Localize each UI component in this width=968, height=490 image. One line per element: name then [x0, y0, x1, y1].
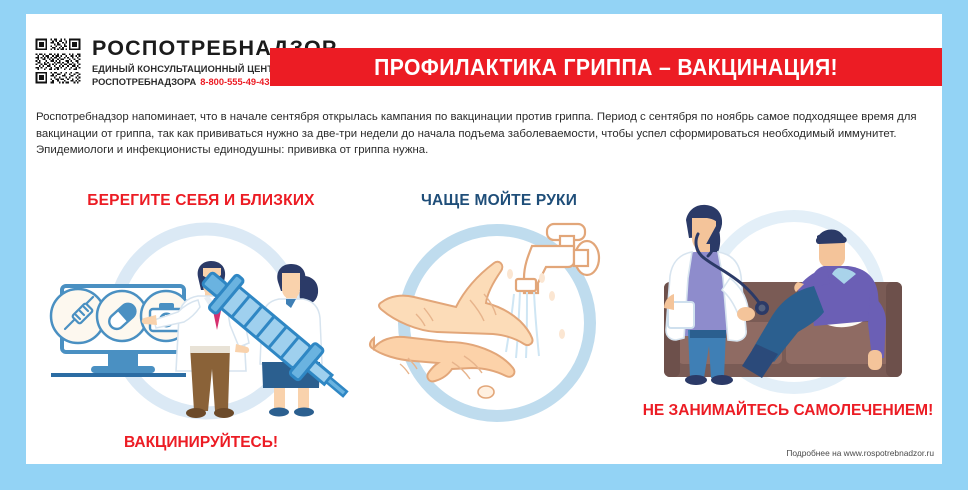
- panel-vaccination: БЕРЕГИТЕ СЕБЯ И БЛИЗКИХ: [46, 184, 356, 464]
- hotline-phone-number: 8-800-555-49-43: [200, 77, 269, 87]
- brand-subtitle-line2-text: РОСПОТРЕБНАДЗОРА: [92, 77, 196, 87]
- brand-subtitle-line1: ЕДИНЫЙ КОНСУЛЬТАЦИОННЫЙ ЦЕНТР: [92, 64, 279, 74]
- intro-paragraph: Роспотребнадзор напоминает, что в начале…: [36, 109, 934, 159]
- qr-code-icon: [34, 37, 82, 85]
- panel-vaccination-heading: БЕРЕГИТЕ СЕБЯ И БЛИЗКИХ: [46, 192, 356, 210]
- brand-subtitle-line2: РОСПОТРЕБНАДЗОРА8-800-555-49-43: [92, 77, 270, 87]
- panel-self-medication-caption: НЕ ЗАНИМАЙТЕСЬ САМОЛЕЧЕНИЕМ!: [634, 402, 942, 420]
- pill-icon: [97, 291, 147, 341]
- panel-self-medication: НЕ ЗАНИМАЙТЕСЬ САМОЛЕЧЕНИЕМ!: [634, 164, 942, 454]
- illustration-hands-washing: [364, 216, 634, 431]
- logo-block: РОСПОТРЕБНАДЗОР ЕДИНЫЙ КОНСУЛЬТАЦИОННЫЙ …: [34, 36, 284, 98]
- panel-handwashing-heading: ЧАЩЕ МОЙТЕ РУКИ: [364, 192, 634, 210]
- panel-handwashing: ЧАЩЕ МОЙТЕ РУКИ: [364, 184, 634, 464]
- lower-hand-shape: [370, 337, 514, 398]
- headline-banner: ПРОФИЛАКТИКА ГРИППА – ВАКЦИНАЦИЯ!: [270, 48, 942, 86]
- panel-vaccination-caption: ВАКЦИНИРУЙТЕСЬ!: [46, 434, 356, 452]
- illustration-doctor-nurse-syringe: [46, 216, 356, 431]
- headline-banner-title: ПРОФИЛАКТИКА ГРИППА – ВАКЦИНАЦИЯ!: [374, 54, 838, 81]
- footer-website-note: Подробнее на www.rospotrebnadzor.ru: [786, 448, 934, 458]
- illustration-doctor-patient-sofa: [634, 182, 942, 397]
- poster-header: РОСПОТРЕБНАДЗОР ЕДИНЫЙ КОНСУЛЬТАЦИОННЫЙ …: [26, 14, 942, 100]
- poster-canvas: РОСПОТРЕБНАДЗОР ЕДИНЫЙ КОНСУЛЬТАЦИОННЫЙ …: [26, 14, 942, 464]
